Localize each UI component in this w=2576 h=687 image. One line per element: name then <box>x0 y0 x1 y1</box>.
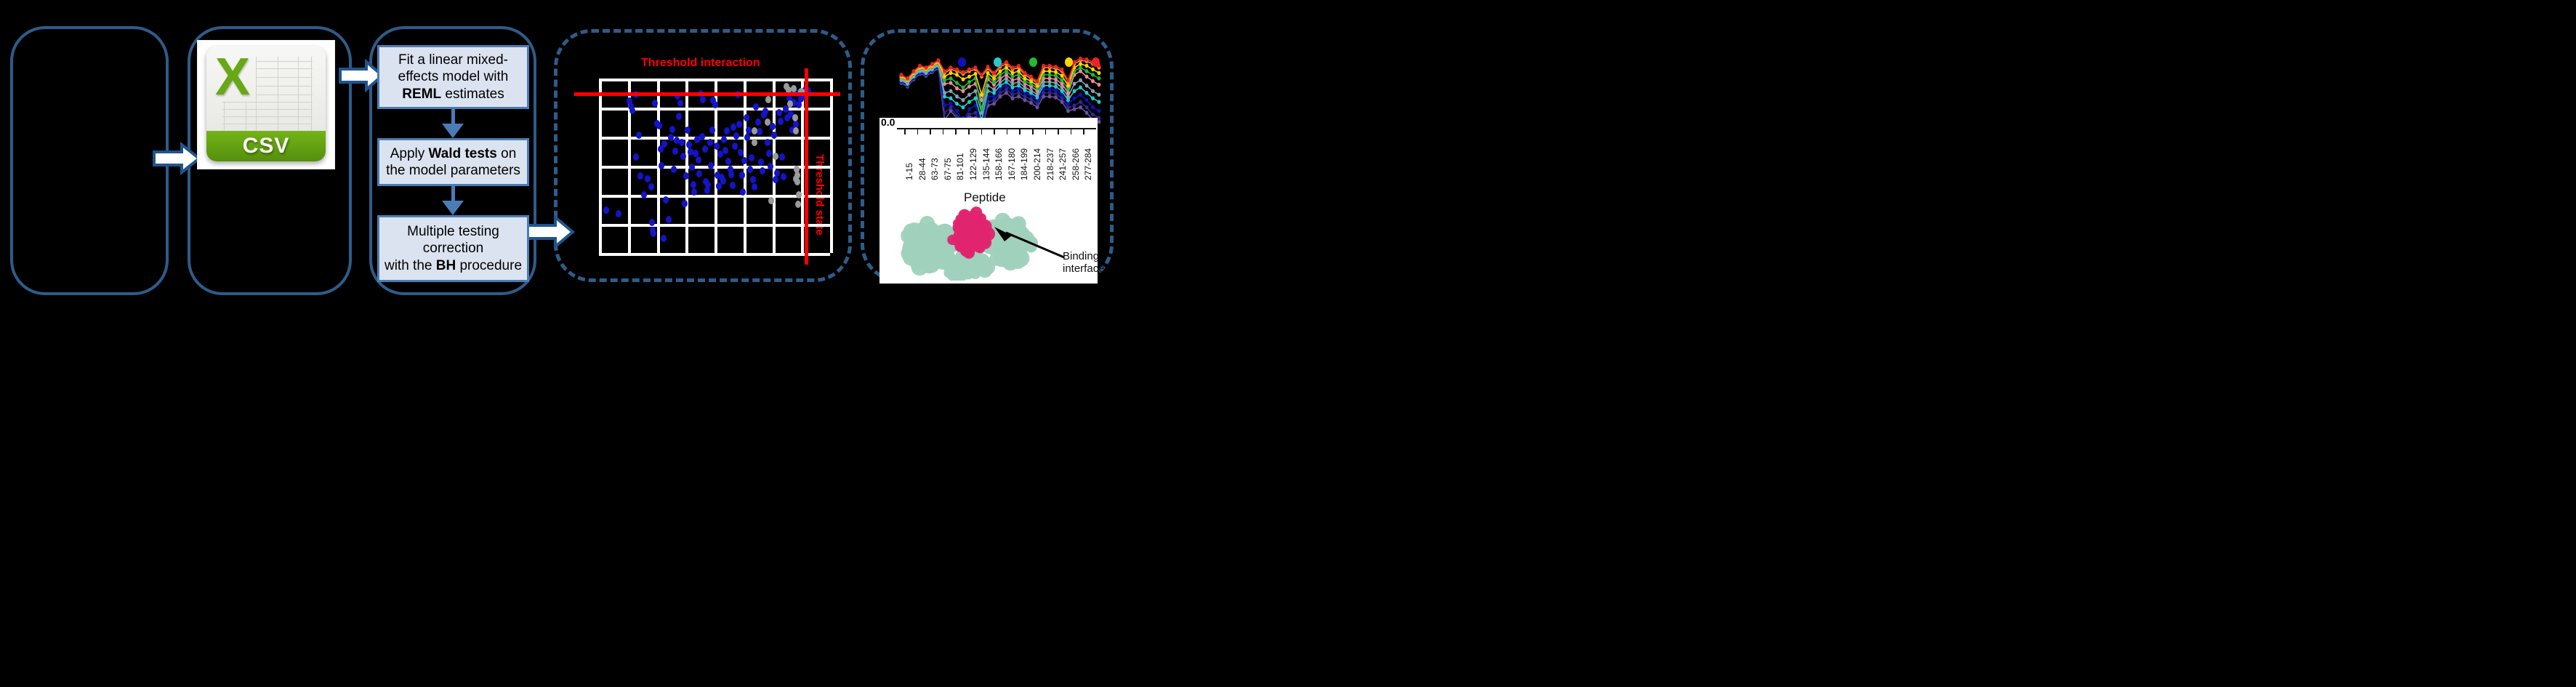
y-axis-zero-tick: 0.0 <box>881 116 895 128</box>
peptide-tick-label: 184-199 <box>1019 148 1029 180</box>
step-wald-text: Apply Wald tests on the model parameters <box>382 145 525 179</box>
series-marker <box>1048 76 1052 81</box>
series-marker <box>962 85 965 89</box>
scatter-point <box>794 178 800 185</box>
series-marker <box>974 89 978 93</box>
series-marker <box>943 82 946 87</box>
x-axis-line <box>897 128 1096 129</box>
series-marker <box>1091 68 1095 72</box>
series-marker <box>962 105 965 110</box>
series-marker <box>1079 100 1082 104</box>
series-marker <box>955 81 959 85</box>
series-marker <box>962 89 965 93</box>
peptide-tick-label: 167-180 <box>1007 148 1017 180</box>
protein-surface-blob <box>919 250 929 260</box>
scatter-point <box>776 109 782 116</box>
scatter-point <box>689 164 695 171</box>
protein-surface-blob <box>970 213 977 220</box>
scatter-point <box>738 149 744 156</box>
series-marker <box>967 80 971 84</box>
excel-x-glyph: X <box>215 51 250 103</box>
series-marker <box>1054 95 1058 100</box>
gridline-horizontal <box>599 253 830 256</box>
scatter-point <box>677 100 683 107</box>
series-marker <box>1029 88 1033 92</box>
series-marker <box>967 107 971 111</box>
scatter-point <box>616 210 621 217</box>
scatter-point <box>648 183 654 190</box>
series-marker <box>1017 76 1021 81</box>
series-marker <box>1073 82 1076 87</box>
scatter-point <box>603 206 609 214</box>
scatter-point <box>659 162 664 169</box>
scatter-point <box>725 158 731 165</box>
series-marker <box>1073 96 1076 100</box>
protein-surface-blob <box>954 261 965 272</box>
series-marker <box>1017 80 1021 84</box>
series-marker <box>1036 92 1039 97</box>
series-marker <box>992 71 996 76</box>
csv-icon-tile: X CSV <box>206 47 326 161</box>
series-marker <box>1048 73 1052 77</box>
series-marker <box>1048 69 1052 73</box>
series-marker <box>1042 64 1045 68</box>
scatter-point <box>730 124 736 131</box>
peptide-tick-label: 135-144 <box>981 148 991 180</box>
peptide-axis-tick <box>1019 129 1021 134</box>
series-marker <box>1085 69 1089 73</box>
peptide-axis-tick <box>1058 129 1059 134</box>
series-marker <box>955 95 959 99</box>
scatter-point <box>792 114 798 121</box>
peptide-axis-tick <box>1083 129 1084 134</box>
scatter-point <box>705 181 711 188</box>
scatter-point <box>629 107 635 114</box>
scatter-point <box>779 153 785 161</box>
series-marker <box>980 92 983 97</box>
csv-icon-label: CSV <box>243 134 290 158</box>
series-marker <box>1023 76 1027 81</box>
series-marker <box>1054 65 1058 69</box>
scatter-point <box>661 140 667 148</box>
scatter-point <box>666 216 672 223</box>
peptide-tick-label: 1-15 <box>904 163 914 180</box>
series-marker <box>1036 102 1039 106</box>
series-marker <box>986 65 990 69</box>
scatter-point <box>773 176 778 183</box>
series-marker <box>1054 88 1058 92</box>
arrow-input-to-csv <box>153 142 201 174</box>
scatter-point <box>778 118 784 125</box>
series-marker <box>949 102 953 106</box>
series-marker <box>1029 97 1033 102</box>
series-marker <box>1060 79 1064 83</box>
peptide-axis-tick <box>930 129 931 134</box>
scatter-point <box>752 127 757 134</box>
series-marker <box>967 84 971 89</box>
scatter-point <box>652 100 658 107</box>
series-marker <box>1079 105 1082 110</box>
scatter-point <box>766 150 772 157</box>
scatter-point <box>709 126 715 134</box>
series-marker <box>999 69 1002 73</box>
series-marker <box>1017 64 1021 68</box>
scatter-point <box>712 101 718 108</box>
series-marker <box>1054 92 1058 96</box>
series-marker <box>999 80 1002 84</box>
series-marker <box>992 102 996 106</box>
scatter-point <box>749 154 754 161</box>
step-wald-box: Apply Wald tests on the model parameters <box>377 138 529 186</box>
peptide-axis-tick <box>917 129 919 134</box>
scatter-point <box>796 191 802 198</box>
scatter-point <box>787 100 793 108</box>
series-marker <box>992 87 996 92</box>
scatter-point <box>702 145 708 153</box>
series-marker <box>1079 65 1082 70</box>
series-marker <box>1011 89 1015 93</box>
scatter-point <box>747 166 753 173</box>
series-marker <box>986 71 990 76</box>
series-marker <box>943 111 946 115</box>
series-marker <box>1011 82 1015 87</box>
protein-surface-blob <box>941 260 950 270</box>
binding-interface-arrow <box>990 225 1067 263</box>
series-marker <box>1066 84 1070 88</box>
series-marker <box>1017 91 1021 95</box>
series-marker <box>1005 60 1008 65</box>
peptide-axis-tick <box>904 129 906 134</box>
series-marker <box>1073 107 1076 111</box>
series-marker <box>1005 69 1008 73</box>
scatter-plot-area <box>599 79 830 253</box>
scatter-point <box>770 123 776 130</box>
series-marker <box>1085 105 1089 110</box>
series-marker <box>1066 102 1070 106</box>
marker-blue <box>958 57 966 67</box>
series-marker <box>943 75 946 79</box>
scatter-point <box>760 167 765 174</box>
series-marker <box>949 65 953 70</box>
series-marker <box>1029 101 1033 105</box>
series-marker <box>955 87 959 91</box>
series-marker <box>1085 57 1089 62</box>
scatter-point <box>696 156 701 164</box>
series-marker <box>943 95 946 99</box>
series-marker <box>1091 105 1095 110</box>
series-marker <box>1011 65 1015 70</box>
scatter-point <box>773 153 778 160</box>
scatter-point <box>750 176 756 183</box>
scatter-point <box>633 153 639 161</box>
scatter-point <box>752 183 757 190</box>
peptide-axis-tick <box>981 129 983 134</box>
binding-interface-label: Binding interface <box>1063 250 1105 276</box>
scatter-point <box>656 122 662 129</box>
series-marker <box>992 91 996 95</box>
scatter-point <box>700 96 706 103</box>
scatter-point <box>724 127 730 134</box>
peptide-axis-tick <box>1032 129 1034 134</box>
step-bh-text: Multiple testing correction with the BH … <box>380 223 526 274</box>
series-marker <box>937 58 941 63</box>
protein-surface-blob <box>903 250 918 265</box>
series-marker <box>1066 79 1070 83</box>
scatter-point <box>708 162 714 169</box>
series-marker <box>1091 73 1095 77</box>
scatter-point <box>794 172 800 179</box>
scatter-point <box>720 177 726 185</box>
series-marker <box>949 76 953 81</box>
step-reml-box: Fit a linear mixed- effects model with R… <box>377 45 529 109</box>
series-marker <box>1091 89 1095 93</box>
peptide-axis-tick <box>968 129 970 134</box>
marker-green <box>1029 57 1037 67</box>
scatter-point <box>736 121 742 128</box>
series-marker <box>949 81 953 85</box>
series-marker <box>1073 103 1076 108</box>
series-marker <box>1054 73 1058 78</box>
series-marker <box>1079 92 1082 97</box>
peptide-tick-label: 67-75 <box>943 158 953 180</box>
gridline-vertical <box>830 79 833 253</box>
scatter-point <box>714 142 720 150</box>
scatter-point <box>732 142 738 150</box>
gridline-horizontal <box>599 224 830 227</box>
series-marker <box>1017 95 1021 99</box>
scatter-point <box>752 139 757 146</box>
step-bh-box: Multiple testing correction with the BH … <box>377 215 529 282</box>
protein-surface-blob <box>967 239 979 252</box>
series-marker <box>1005 65 1008 70</box>
series-marker <box>992 76 996 81</box>
series-marker <box>980 73 983 77</box>
connector-reml-wald-arrowhead <box>442 124 464 138</box>
protein-surface-blob <box>978 263 992 278</box>
series-marker <box>1079 85 1082 89</box>
scatter-point <box>691 181 696 188</box>
scatter-point <box>781 173 786 180</box>
series-marker <box>900 73 903 77</box>
scatter-point <box>668 134 674 141</box>
threshold-interaction-label: Threshold interaction <box>641 57 760 70</box>
peptide-axis-tick <box>955 129 957 134</box>
series-marker <box>1073 89 1076 93</box>
series-marker <box>967 68 971 72</box>
series-marker <box>1017 87 1021 92</box>
scatter-point <box>755 118 761 126</box>
peptide-tick-label: 258-266 <box>1071 148 1081 180</box>
series-marker <box>918 64 922 68</box>
series-marker <box>1011 85 1015 89</box>
series-marker <box>1098 92 1101 97</box>
series-marker <box>1054 70 1058 74</box>
series-marker <box>962 70 965 74</box>
scatter-point <box>744 114 749 121</box>
series-marker <box>992 98 996 103</box>
series-marker <box>1011 92 1015 97</box>
gridline-horizontal <box>599 79 830 81</box>
scatter-point <box>636 132 642 139</box>
series-marker <box>1066 105 1070 110</box>
peptide-tick-label: 200-214 <box>1032 148 1042 180</box>
series-marker <box>930 62 934 66</box>
series-marker <box>967 92 971 97</box>
peptide-tick-label: 81-101 <box>955 153 965 180</box>
series-marker <box>1091 96 1095 100</box>
peptide-axis-tick <box>994 129 995 134</box>
series-marker <box>1029 75 1033 79</box>
series-marker <box>943 79 946 83</box>
scatter-point <box>723 147 728 154</box>
series-marker <box>962 98 965 103</box>
scatter-point <box>649 219 655 226</box>
scatter-point <box>680 153 686 160</box>
series-marker <box>1005 73 1008 77</box>
series-marker <box>1079 62 1082 66</box>
series-marker <box>1098 116 1101 121</box>
series-marker <box>1079 69 1082 73</box>
scatter-point <box>691 188 697 196</box>
series-marker <box>1073 60 1076 65</box>
scatter-point <box>793 127 799 134</box>
series-marker <box>1098 109 1101 113</box>
scatter-point <box>645 175 651 182</box>
scatter-point <box>685 126 691 134</box>
scatter-point <box>699 133 705 140</box>
series-marker <box>949 71 953 76</box>
scatter-point <box>774 169 780 177</box>
gridline-horizontal <box>599 137 830 140</box>
series-marker <box>1098 76 1101 81</box>
series-marker <box>1048 91 1052 95</box>
peptide-tick-label: 218-237 <box>1045 148 1055 180</box>
peptide-axis-tick <box>1045 129 1047 134</box>
series-marker <box>1085 111 1089 115</box>
series-marker <box>1048 95 1052 99</box>
series-marker <box>1054 81 1058 85</box>
series-marker <box>974 65 978 70</box>
series-marker <box>1098 71 1101 76</box>
series-marker <box>1011 96 1015 100</box>
series-marker <box>992 95 996 99</box>
scatter-point <box>663 196 669 204</box>
protein-surface-blob <box>940 225 950 235</box>
series-marker <box>955 68 959 72</box>
series-marker <box>1085 84 1089 88</box>
peptide-tick-label: 158-166 <box>994 148 1004 180</box>
series-marker <box>1098 83 1101 87</box>
series-marker <box>1048 80 1052 84</box>
series-marker <box>949 89 953 93</box>
scatter-point <box>672 148 678 155</box>
protein-surface-blob <box>919 234 926 241</box>
marker-red <box>1092 57 1100 67</box>
series-marker <box>967 75 971 79</box>
scatter-point <box>682 200 688 207</box>
scatter-point <box>651 230 656 237</box>
scatter-point <box>641 191 647 198</box>
series-marker <box>967 113 971 117</box>
scatter-point <box>762 108 768 115</box>
step-reml-text: Fit a linear mixed- effects model with R… <box>394 52 513 103</box>
series-marker <box>912 69 916 73</box>
series-marker <box>906 76 909 81</box>
scatter-point <box>696 170 702 177</box>
scatter-point <box>721 136 727 143</box>
series-marker <box>943 69 946 73</box>
series-marker <box>1066 98 1070 103</box>
scatter-point <box>728 171 734 178</box>
scatter-point <box>765 96 771 103</box>
series-marker <box>1054 77 1058 81</box>
series-marker <box>1036 79 1039 84</box>
series-marker <box>1066 109 1070 113</box>
series-marker <box>1048 64 1052 68</box>
scatter-point <box>771 132 777 139</box>
scatter-point <box>671 166 677 173</box>
scatter-point <box>679 139 685 146</box>
peptide-tick-label: 241-257 <box>1058 148 1068 180</box>
peptide-axis-tick <box>1071 129 1072 134</box>
series-marker <box>1036 105 1039 110</box>
x-axis-title: Peptide <box>964 190 1006 205</box>
marker-cyan <box>994 57 1002 67</box>
series-marker <box>1017 84 1021 88</box>
protein-surface-blob <box>903 223 919 238</box>
series-marker <box>1011 75 1015 79</box>
series-marker <box>1011 79 1015 83</box>
protein-surface-blob <box>963 261 978 276</box>
series-marker <box>1011 71 1015 76</box>
series-marker <box>1098 100 1101 104</box>
series-marker <box>1023 71 1027 76</box>
series-marker <box>1023 98 1027 103</box>
scatter-point <box>686 141 692 148</box>
scatter-point <box>637 172 643 180</box>
series-marker <box>1048 87 1052 92</box>
series-marker <box>943 103 946 108</box>
protein-surface-blob <box>968 231 977 240</box>
scatter-point <box>730 182 736 189</box>
series-marker <box>1066 95 1070 99</box>
scatter-point <box>768 163 773 170</box>
series-marker <box>949 96 953 100</box>
series-marker <box>1054 84 1058 89</box>
marker-yellow <box>1065 57 1073 67</box>
threshold-interaction-line <box>574 92 840 96</box>
series-marker <box>1091 79 1095 84</box>
peptide-axis-tick <box>943 129 944 134</box>
threshold-state-line <box>805 68 808 265</box>
series-marker <box>1060 68 1064 72</box>
series-marker <box>1023 95 1027 99</box>
protein-surface-blob <box>962 214 969 222</box>
series-marker <box>1005 76 1008 81</box>
series-marker <box>974 72 978 76</box>
peptide-tick-label: 122-129 <box>968 148 978 180</box>
peptide-axis-tick <box>1007 129 1008 134</box>
scatter-point <box>795 201 801 208</box>
series-marker <box>1005 87 1008 92</box>
scatter-point <box>753 103 759 111</box>
series-marker <box>980 107 983 111</box>
peptide-axis-and-structure-card: 0.0 1-1528-4463-7367-7581-101122-129135-… <box>880 118 1098 284</box>
scatter-point <box>676 113 682 120</box>
series-marker <box>1005 91 1008 95</box>
scatter-point <box>739 172 745 179</box>
series-marker <box>1079 79 1082 83</box>
